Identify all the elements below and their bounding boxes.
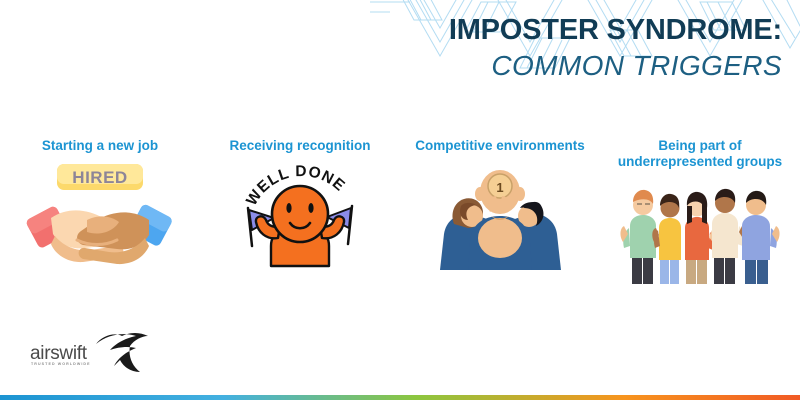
well-done-character-illustration: WELL DONE (230, 162, 370, 272)
trophy-rank-label: 1 (496, 180, 503, 195)
airswift-logo: airswift TRUSTED WORLDWIDE (30, 330, 150, 376)
page-subtitle: COMMON TRIGGERS (300, 49, 782, 82)
bottom-gradient-bar (0, 395, 800, 400)
trigger-card-starting-a-new-job: Starting a new job HIRED (0, 138, 200, 272)
header: IMPOSTER SYNDROME: COMMON TRIGGERS (300, 14, 782, 83)
trigger-card-label: Competitive environments (409, 138, 591, 154)
page-title: IMPOSTER SYNDROME: (300, 14, 782, 46)
diverse-group-illustration (610, 178, 790, 288)
trigger-card-label: Being part of underrepresented groups (612, 138, 788, 170)
infographic-canvas: IMPOSTER SYNDROME: COMMON TRIGGERS Start… (0, 0, 800, 400)
group-person-2 (652, 194, 681, 284)
group-person-4 (712, 189, 747, 284)
handshake-hired-illustration: HIRED (25, 162, 175, 272)
trigger-card-label: Receiving recognition (223, 138, 376, 154)
trigger-cards-row: Starting a new job HIRED (0, 138, 800, 288)
group-person-1 (620, 190, 656, 284)
swift-bird-icon (94, 330, 150, 376)
trigger-card-competitive-environments: Competitive environments (400, 138, 600, 272)
trigger-card-receiving-recognition: Receiving recognition (200, 138, 400, 272)
logo-wordmark: airswift (30, 344, 87, 363)
logo-tagline: TRUSTED WORLDWIDE (31, 363, 91, 367)
group-person-5 (742, 191, 780, 284)
trigger-card-label: Starting a new job (36, 138, 164, 154)
group-person-3 (685, 192, 716, 284)
competition-trophy-illustration: 1 (428, 162, 573, 272)
svg-text:HIRED: HIRED (72, 168, 127, 187)
trigger-card-underrepresented-groups: Being part of underrepresented groups (600, 138, 800, 288)
